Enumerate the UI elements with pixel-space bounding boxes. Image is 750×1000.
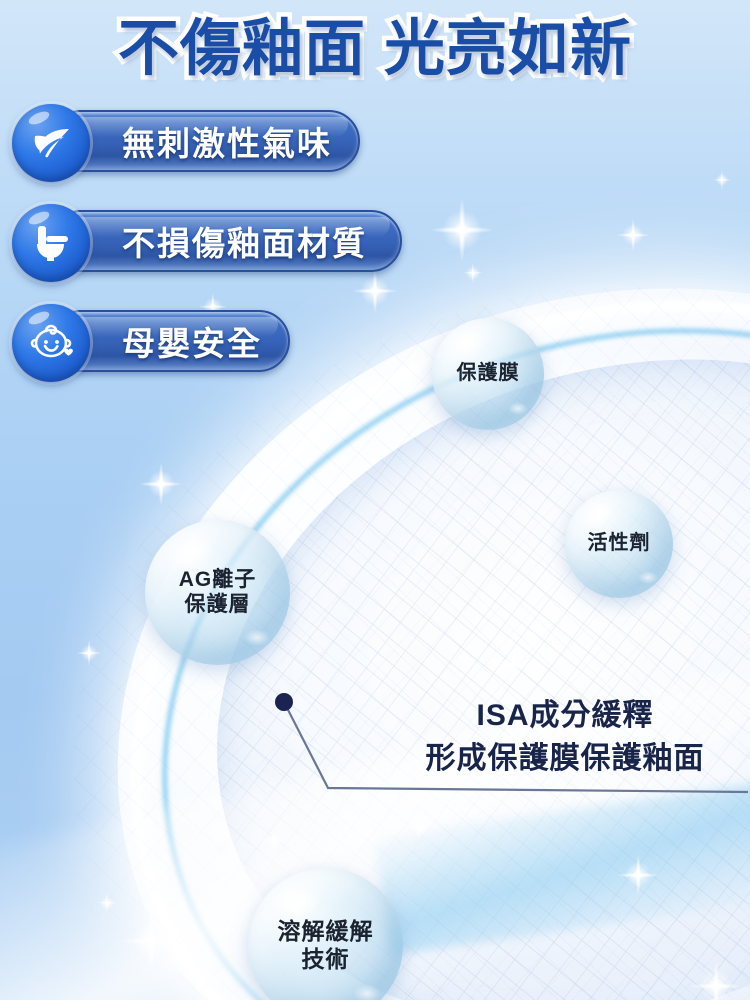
callout-line-1: ISA成分緩釋 — [380, 694, 750, 737]
feature-label: 無刺激性氣味 — [122, 117, 332, 165]
feature-label: 不損傷釉面材質 — [122, 217, 367, 265]
bubble-surfactant: 活性劑 — [565, 490, 673, 598]
toilet-icon — [12, 204, 90, 282]
baby-face-icon — [12, 304, 90, 382]
bubble-label: 溶解緩解 技術 — [278, 918, 374, 972]
callout-marker-dot — [275, 693, 293, 711]
product-feature-poster: 不傷釉面 光亮如新 無刺激性氣味 不損傷釉面材質 — [0, 0, 750, 1000]
leaf-icon — [12, 104, 90, 182]
bubble-ag-ion-protective-layer: AG離子 保護層 — [145, 520, 290, 665]
callout-line-2: 形成保護膜保護釉面 — [380, 737, 750, 780]
bubble-label: AG離子 保護層 — [179, 568, 257, 618]
bubble-label: 保護膜 — [457, 362, 520, 386]
feature-label: 母嬰安全 — [122, 317, 262, 365]
callout-text: ISA成分緩釋 形成保護膜保護釉面 — [380, 694, 750, 780]
feature-pill[interactable]: 無刺激性氣味 — [50, 110, 360, 172]
bubble-protective-film: 保護膜 — [432, 318, 544, 430]
page-title: 不傷釉面 光亮如新 — [0, 8, 750, 88]
bubble-label: 活性劑 — [588, 532, 651, 556]
feature-pill[interactable]: 不損傷釉面材質 — [50, 210, 402, 272]
